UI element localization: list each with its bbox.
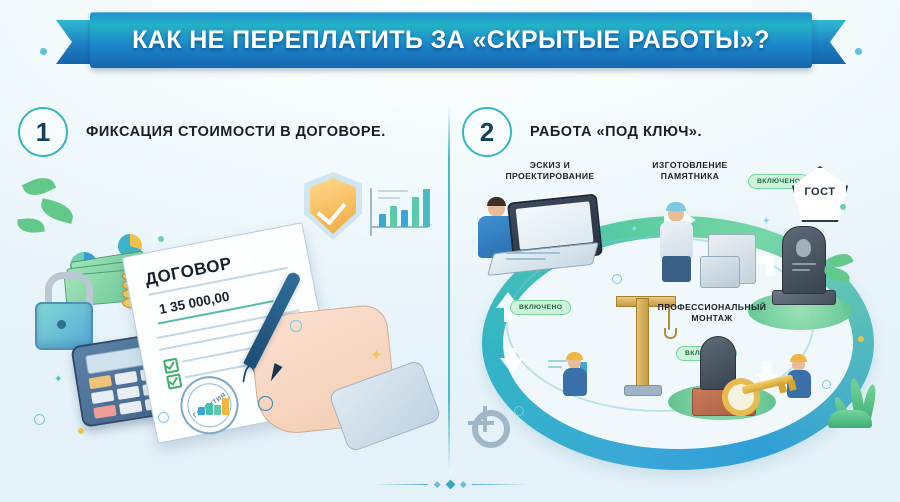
ornament-line-right bbox=[472, 484, 528, 486]
person-torso bbox=[660, 221, 693, 259]
stage-1-label-line2: ПРОЕКТИРОВАНИЕ bbox=[505, 171, 594, 181]
helmet-icon bbox=[790, 354, 807, 362]
sparkle-icon: ✦ bbox=[54, 374, 62, 385]
calculator-key bbox=[91, 390, 114, 404]
calculator-key bbox=[117, 386, 140, 400]
crane-base bbox=[624, 385, 662, 396]
decor-dot bbox=[840, 204, 846, 210]
stage-2-label-line1: ИЗГОТОВЛЕНИЕ bbox=[652, 160, 727, 170]
title-banner: КАК НЕ ПЕРЕПЛАТИТЬ ЗА «СКРЫТЫЕ РАБОТЫ»? bbox=[56, 12, 846, 70]
monument-portrait bbox=[796, 239, 811, 257]
decor-circle bbox=[612, 274, 622, 284]
chart-bar bbox=[206, 403, 213, 415]
banner-body: КАК НЕ ПЕРЕПЛАТИТЬ ЗА «СКРЫТЫЕ РАБОТЫ»? bbox=[90, 12, 812, 68]
helmet-icon bbox=[666, 202, 686, 211]
decor-circle bbox=[158, 412, 169, 423]
stage-1-label-line1: ЭСКИЗ И bbox=[530, 160, 571, 170]
ornament-diamond bbox=[460, 481, 466, 487]
ornament-diamond bbox=[445, 480, 455, 490]
section-1-header: 1 ФИКСАЦИЯ СТОИМОСТИ В ДОГОВОРЕ. bbox=[18, 104, 438, 160]
stage-1-label: ЭСКИЗ И ПРОЕКТИРОВАНИЕ bbox=[490, 160, 610, 182]
calculator-key bbox=[114, 371, 137, 385]
chart-axis-y bbox=[370, 188, 372, 236]
person-legs bbox=[662, 256, 691, 282]
check-icon bbox=[166, 373, 182, 389]
mini-bar-chart-icon bbox=[198, 400, 228, 424]
chart-bar bbox=[222, 398, 229, 415]
stone-block-icon bbox=[700, 256, 740, 288]
badge-included-design: ВКЛЮЧЕНО bbox=[510, 300, 571, 315]
stage-3-label-line2: МОНТАЖ bbox=[691, 313, 732, 323]
monument-icon bbox=[782, 226, 826, 294]
contract-amount: 1 35 000,00 bbox=[158, 289, 231, 317]
foliage-decoration bbox=[814, 374, 884, 440]
check-icon bbox=[163, 358, 179, 374]
bottom-ornament bbox=[372, 481, 528, 488]
decor-dot bbox=[158, 236, 164, 242]
stage-2-label-line2: ПАМЯТНИКА bbox=[661, 171, 719, 181]
stage-3-label-line1: ПРОФЕССИОНАЛЬНЫЙ bbox=[658, 302, 767, 312]
section-2: 2 РАБОТА «ПОД КЛЮЧ». bbox=[462, 104, 886, 460]
ribbon-dot-right bbox=[855, 48, 862, 55]
ornament-line-left bbox=[372, 484, 428, 486]
cycle-arrow-icon bbox=[498, 346, 526, 376]
chart-bar bbox=[198, 407, 205, 415]
crane-hook bbox=[664, 328, 677, 339]
chart-bar bbox=[390, 206, 397, 227]
chart-bar bbox=[412, 197, 419, 227]
stage-2-label: ИЗГОТОВЛЕНИЕ ПАМЯТНИКА bbox=[634, 160, 746, 182]
ribbon-dot-left bbox=[40, 48, 47, 55]
gost-seal-label: ГОСТ bbox=[804, 186, 835, 198]
section-2-label: РАБОТА «ПОД КЛЮЧ». bbox=[530, 124, 702, 140]
chart-guide-line bbox=[548, 360, 568, 362]
calculator-key bbox=[93, 405, 116, 419]
decor-circle bbox=[34, 414, 45, 425]
decor-dot bbox=[78, 428, 84, 434]
helmet-icon bbox=[566, 352, 583, 360]
sparkle-icon: ✦ bbox=[630, 224, 638, 235]
chart-bar bbox=[401, 210, 408, 227]
ornament-diamond bbox=[434, 481, 440, 487]
bar-chart-icon bbox=[370, 178, 432, 236]
person-torso bbox=[563, 368, 587, 396]
column-divider bbox=[448, 108, 450, 470]
section-1-illustration: ДОГОВОР 1 35 000,00 ГАРАНТИЯ bbox=[18, 160, 438, 460]
calculator-key bbox=[119, 400, 142, 414]
chart-guide-line bbox=[378, 197, 400, 199]
section-2-header: 2 РАБОТА «ПОД КЛЮЧ». bbox=[462, 104, 886, 160]
leaf-icon bbox=[17, 217, 44, 235]
chart-guide-line bbox=[378, 190, 408, 192]
stage-3-label: ПРОФЕССИОНАЛЬНЫЙ МОНТАЖ bbox=[644, 302, 780, 324]
section-1-number: 1 bbox=[18, 107, 68, 157]
contract-title: ДОГОВОР bbox=[143, 254, 233, 290]
infographic-canvas: КАК НЕ ПЕРЕПЛАТИТЬ ЗА «СКРЫТЫЕ РАБОТЫ»? … bbox=[0, 0, 900, 502]
chart-bar bbox=[423, 189, 430, 227]
decor-circle bbox=[822, 380, 831, 389]
grass-bush bbox=[828, 410, 872, 428]
sparkle-icon: ✦ bbox=[370, 346, 383, 364]
decor-dot bbox=[858, 336, 864, 342]
chart-guide-line bbox=[548, 366, 562, 368]
crane-icon bbox=[610, 284, 674, 396]
calculator-key bbox=[89, 375, 112, 389]
leaf-icon bbox=[22, 172, 56, 200]
person-hair bbox=[487, 197, 506, 206]
leaf-icon bbox=[38, 198, 75, 224]
chart-bar bbox=[379, 214, 386, 227]
chart-bar bbox=[214, 405, 221, 415]
sparkle-icon: ✦ bbox=[762, 216, 770, 227]
decor-circle bbox=[258, 396, 273, 411]
monument-inscription bbox=[792, 269, 810, 271]
padlock-keyhole bbox=[57, 320, 66, 329]
monument-inscription bbox=[792, 263, 816, 265]
decor-circle bbox=[514, 406, 524, 416]
section-1: 1 ФИКСАЦИЯ СТОИМОСТИ В ДОГОВОРЕ. bbox=[18, 104, 438, 460]
section-1-label: ФИКСАЦИЯ СТОИМОСТИ В ДОГОВОРЕ. bbox=[86, 124, 386, 140]
banner-title: КАК НЕ ПЕРЕПЛАТИТЬ ЗА «СКРЫТЫЕ РАБОТЫ»? bbox=[132, 26, 770, 55]
decor-circle bbox=[290, 320, 302, 332]
laptop-screen bbox=[516, 201, 594, 250]
section-2-number: 2 bbox=[462, 107, 512, 157]
gear-icon bbox=[472, 410, 510, 448]
section-2-illustration: ЭСКИЗ И ПРОЕКТИРОВАНИЕ ИЗГОТОВЛЕНИЕ ПАМЯ… bbox=[462, 160, 886, 460]
